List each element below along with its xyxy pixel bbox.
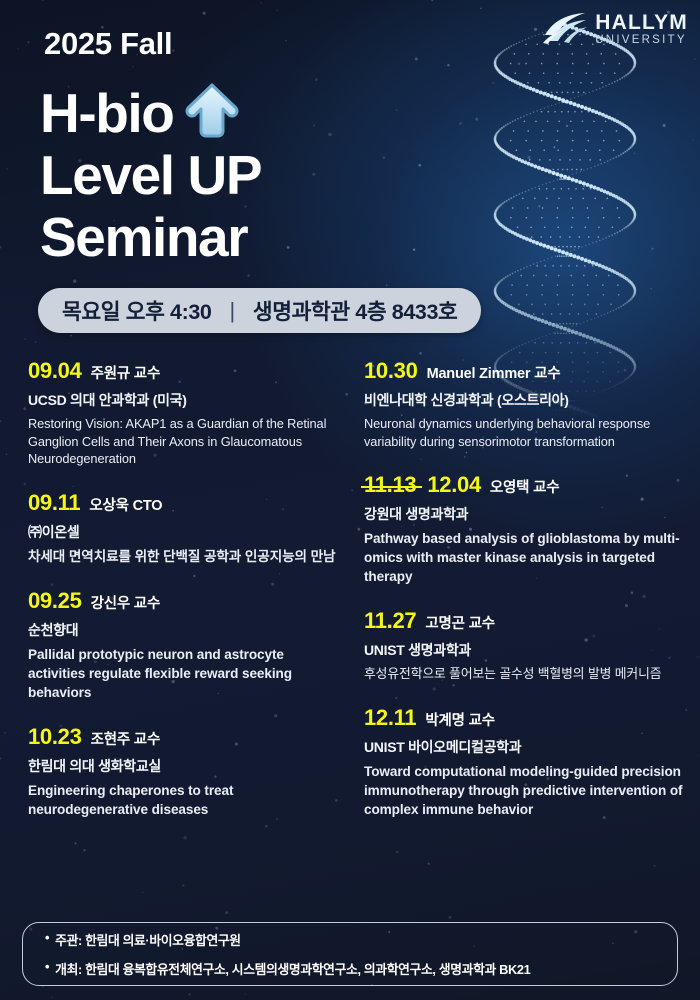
- entry-header: 10.23조현주 교수: [28, 724, 342, 750]
- seminar-poster: HALLYM UNIVERSITY 2025 Fall H-bio Level …: [0, 0, 700, 1000]
- cancelled-date: 11.13: [364, 472, 416, 498]
- seminar-entry: 11.1312.04오영택 교수강원대 생명과학과Pathway based a…: [364, 472, 692, 586]
- seminar-date: 09.25: [28, 588, 82, 614]
- host-text: 주관: 한림대 의료·바이오융합연구원: [55, 930, 241, 949]
- speaker-affiliation: UCSD 의대 안과학과 (미국): [28, 390, 342, 410]
- seminar-date: 11.27: [364, 608, 416, 634]
- page-title: H-bio Level UP Seminar: [40, 82, 261, 268]
- time-location-bar: 목요일 오후 4:30 | 생명과학관 4층 8433호: [38, 288, 481, 333]
- bullet-icon: •: [45, 959, 49, 978]
- talk-title: 후성유전학으로 풀어보는 골수성 백혈병의 발병 메커니즘: [364, 665, 692, 683]
- seminar-time: 목요일 오후 4:30: [62, 295, 211, 326]
- talk-title: Restoring Vision: AKAP1 as a Guardian of…: [28, 415, 342, 468]
- entry-header: 10.30Manuel Zimmer 교수: [364, 358, 692, 384]
- speaker-name: 고명곤 교수: [425, 612, 495, 633]
- speaker-affiliation: 순천향대: [28, 620, 342, 640]
- seminar-entry: 09.11오상욱 CTO㈜이온셀차세대 면역치료를 위한 단백질 공학과 인공지…: [28, 490, 342, 566]
- organizer-line-host: • 주관: 한림대 의료·바이오융합연구원: [45, 930, 655, 949]
- hallym-university-logo: HALLYM UNIVERSITY: [542, 12, 688, 47]
- entry-header: 12.11박계명 교수: [364, 705, 692, 731]
- entry-header: 09.04주원규 교수: [28, 358, 342, 384]
- entry-header: 09.25강신우 교수: [28, 588, 342, 614]
- seminar-date: 10.30: [364, 358, 418, 384]
- talk-title: Pallidal prototypic neuron and astrocyte…: [28, 645, 342, 702]
- seminar-entry: 10.30Manuel Zimmer 교수비엔나대학 신경과학과 (오스트리아)…: [364, 358, 692, 450]
- seminar-entry: 09.25강신우 교수순천향대Pallidal prototypic neuro…: [28, 588, 342, 702]
- speaker-name: 박계명 교수: [425, 709, 495, 730]
- seminar-entry: 09.04주원규 교수UCSD 의대 안과학과 (미국)Restoring Vi…: [28, 358, 342, 468]
- speaker-name: 오영택 교수: [490, 476, 560, 497]
- seminar-schedule: 09.04주원규 교수UCSD 의대 안과학과 (미국)Restoring Vi…: [0, 358, 700, 841]
- seminar-entry: 10.23조현주 교수한림대 의대 생화학교실Engineering chape…: [28, 724, 342, 819]
- speaker-affiliation: 비엔나대학 신경과학과 (오스트리아): [364, 390, 692, 410]
- talk-title: Pathway based analysis of glioblastoma b…: [364, 529, 692, 586]
- talk-title: Toward computational modeling-guided pre…: [364, 762, 692, 819]
- talk-title: Engineering chaperones to treat neurodeg…: [28, 781, 342, 819]
- speaker-name: 주원규 교수: [91, 362, 161, 383]
- logo-name: HALLYM: [595, 12, 688, 33]
- speaker-name: 강신우 교수: [91, 592, 161, 613]
- title-line-1: H-bio: [40, 82, 174, 144]
- speaker-name: 조현주 교수: [91, 728, 161, 749]
- entry-header: 11.27고명곤 교수: [364, 608, 692, 634]
- schedule-column-right: 10.30Manuel Zimmer 교수비엔나대학 신경과학과 (오스트리아)…: [350, 358, 700, 841]
- speaker-affiliation: ㈜이온셀: [28, 522, 342, 542]
- speaker-affiliation: UNIST 생명과학과: [364, 640, 692, 660]
- seminar-date: 09.11: [28, 490, 80, 516]
- organizers-text: 개최: 한림대 융복합유전체연구소, 시스템의생명과학연구소, 의과학연구소, …: [55, 959, 530, 978]
- speaker-affiliation: 한림대 의대 생화학교실: [28, 756, 342, 776]
- seminar-date: 10.23: [28, 724, 82, 750]
- seminar-date: 09.04: [28, 358, 82, 384]
- season-label: 2025 Fall: [44, 26, 172, 62]
- organizer-box: • 주관: 한림대 의료·바이오융합연구원 • 개최: 한림대 융복합유전체연구…: [22, 922, 678, 986]
- title-line-2: Level UP: [40, 144, 261, 206]
- seminar-location: 생명과학관 4층 8433호: [253, 295, 458, 326]
- speaker-affiliation: UNIST 바이오메디컬공학과: [364, 737, 692, 757]
- seminar-date: 12.11: [364, 705, 416, 731]
- logo-subtitle: UNIVERSITY: [595, 35, 688, 47]
- up-arrow-icon: [184, 81, 240, 139]
- seminar-entry: 11.27고명곤 교수UNIST 생명과학과후성유전학으로 풀어보는 골수성 백…: [364, 608, 692, 683]
- talk-title: 차세대 면역치료를 위한 단백질 공학과 인공지능의 만남: [28, 547, 342, 566]
- hallym-wave-logo-icon: [542, 12, 588, 46]
- speaker-affiliation: 강원대 생명과학과: [364, 504, 692, 524]
- schedule-column-left: 09.04주원규 교수UCSD 의대 안과학과 (미국)Restoring Vi…: [0, 358, 350, 841]
- info-separator: |: [229, 298, 234, 324]
- seminar-entry: 12.11박계명 교수UNIST 바이오메디컬공학과Toward computa…: [364, 705, 692, 819]
- organizer-line-organizers: • 개최: 한림대 융복합유전체연구소, 시스템의생명과학연구소, 의과학연구소…: [45, 959, 655, 978]
- seminar-date: 12.04: [427, 472, 481, 498]
- speaker-name: Manuel Zimmer 교수: [427, 362, 561, 383]
- entry-header: 11.1312.04오영택 교수: [364, 472, 692, 498]
- title-line-3: Seminar: [40, 206, 247, 268]
- entry-header: 09.11오상욱 CTO: [28, 490, 342, 516]
- speaker-name: 오상욱 CTO: [89, 494, 162, 515]
- talk-title: Neuronal dynamics underlying behavioral …: [364, 415, 692, 450]
- bullet-icon: •: [45, 930, 49, 949]
